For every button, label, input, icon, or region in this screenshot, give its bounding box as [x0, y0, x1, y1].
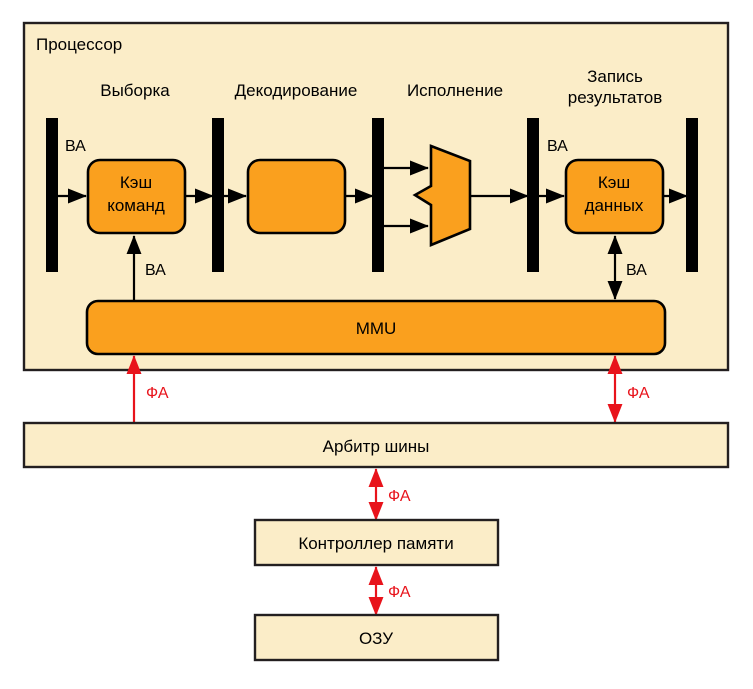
fa-label-right: ФА [627, 385, 650, 402]
stage-label-execute: Исполнение [407, 81, 503, 100]
pipeline-latch-bar-3 [372, 118, 384, 272]
pipeline-latch-bar-2 [212, 118, 224, 272]
va-label-fetch: ВА [65, 138, 86, 155]
stage-label-writeback-line2: результатов [568, 88, 662, 107]
pipeline-latch-bar-5 [686, 118, 698, 272]
instruction-cache-label-line2: команд [107, 196, 165, 215]
va-label-icache-mmu: ВА [145, 262, 166, 279]
memory-controller-label: Контроллер памяти [298, 534, 453, 553]
data-cache-label-line2: данных [585, 196, 644, 215]
instruction-cache-label-line1: Кэш [120, 173, 152, 192]
cpu-memory-hierarchy-diagram: Процессор Выборка Декодирование Исполнен… [0, 0, 753, 689]
stage-label-writeback-line1: Запись [587, 67, 643, 86]
stage-label-decode: Декодирование [235, 81, 358, 100]
mmu-label: MMU [356, 319, 397, 338]
data-cache-label-line1: Кэш [598, 173, 630, 192]
fa-label-memctrl: ФА [388, 488, 411, 505]
va-label-dcache-mmu: ВА [626, 262, 647, 279]
fa-label-left: ФА [146, 385, 169, 402]
fa-label-ram: ФА [388, 584, 411, 601]
stage-label-fetch: Выборка [100, 81, 170, 100]
pipeline-latch-bar-4 [527, 118, 539, 272]
va-label-writeback: ВА [547, 138, 568, 155]
processor-title: Процессор [36, 35, 122, 54]
ram-label: ОЗУ [359, 629, 393, 648]
bus-arbiter-label: Арбитр шины [323, 437, 430, 456]
decode-unit-box [248, 160, 345, 233]
pipeline-latch-bar-1 [46, 118, 58, 272]
